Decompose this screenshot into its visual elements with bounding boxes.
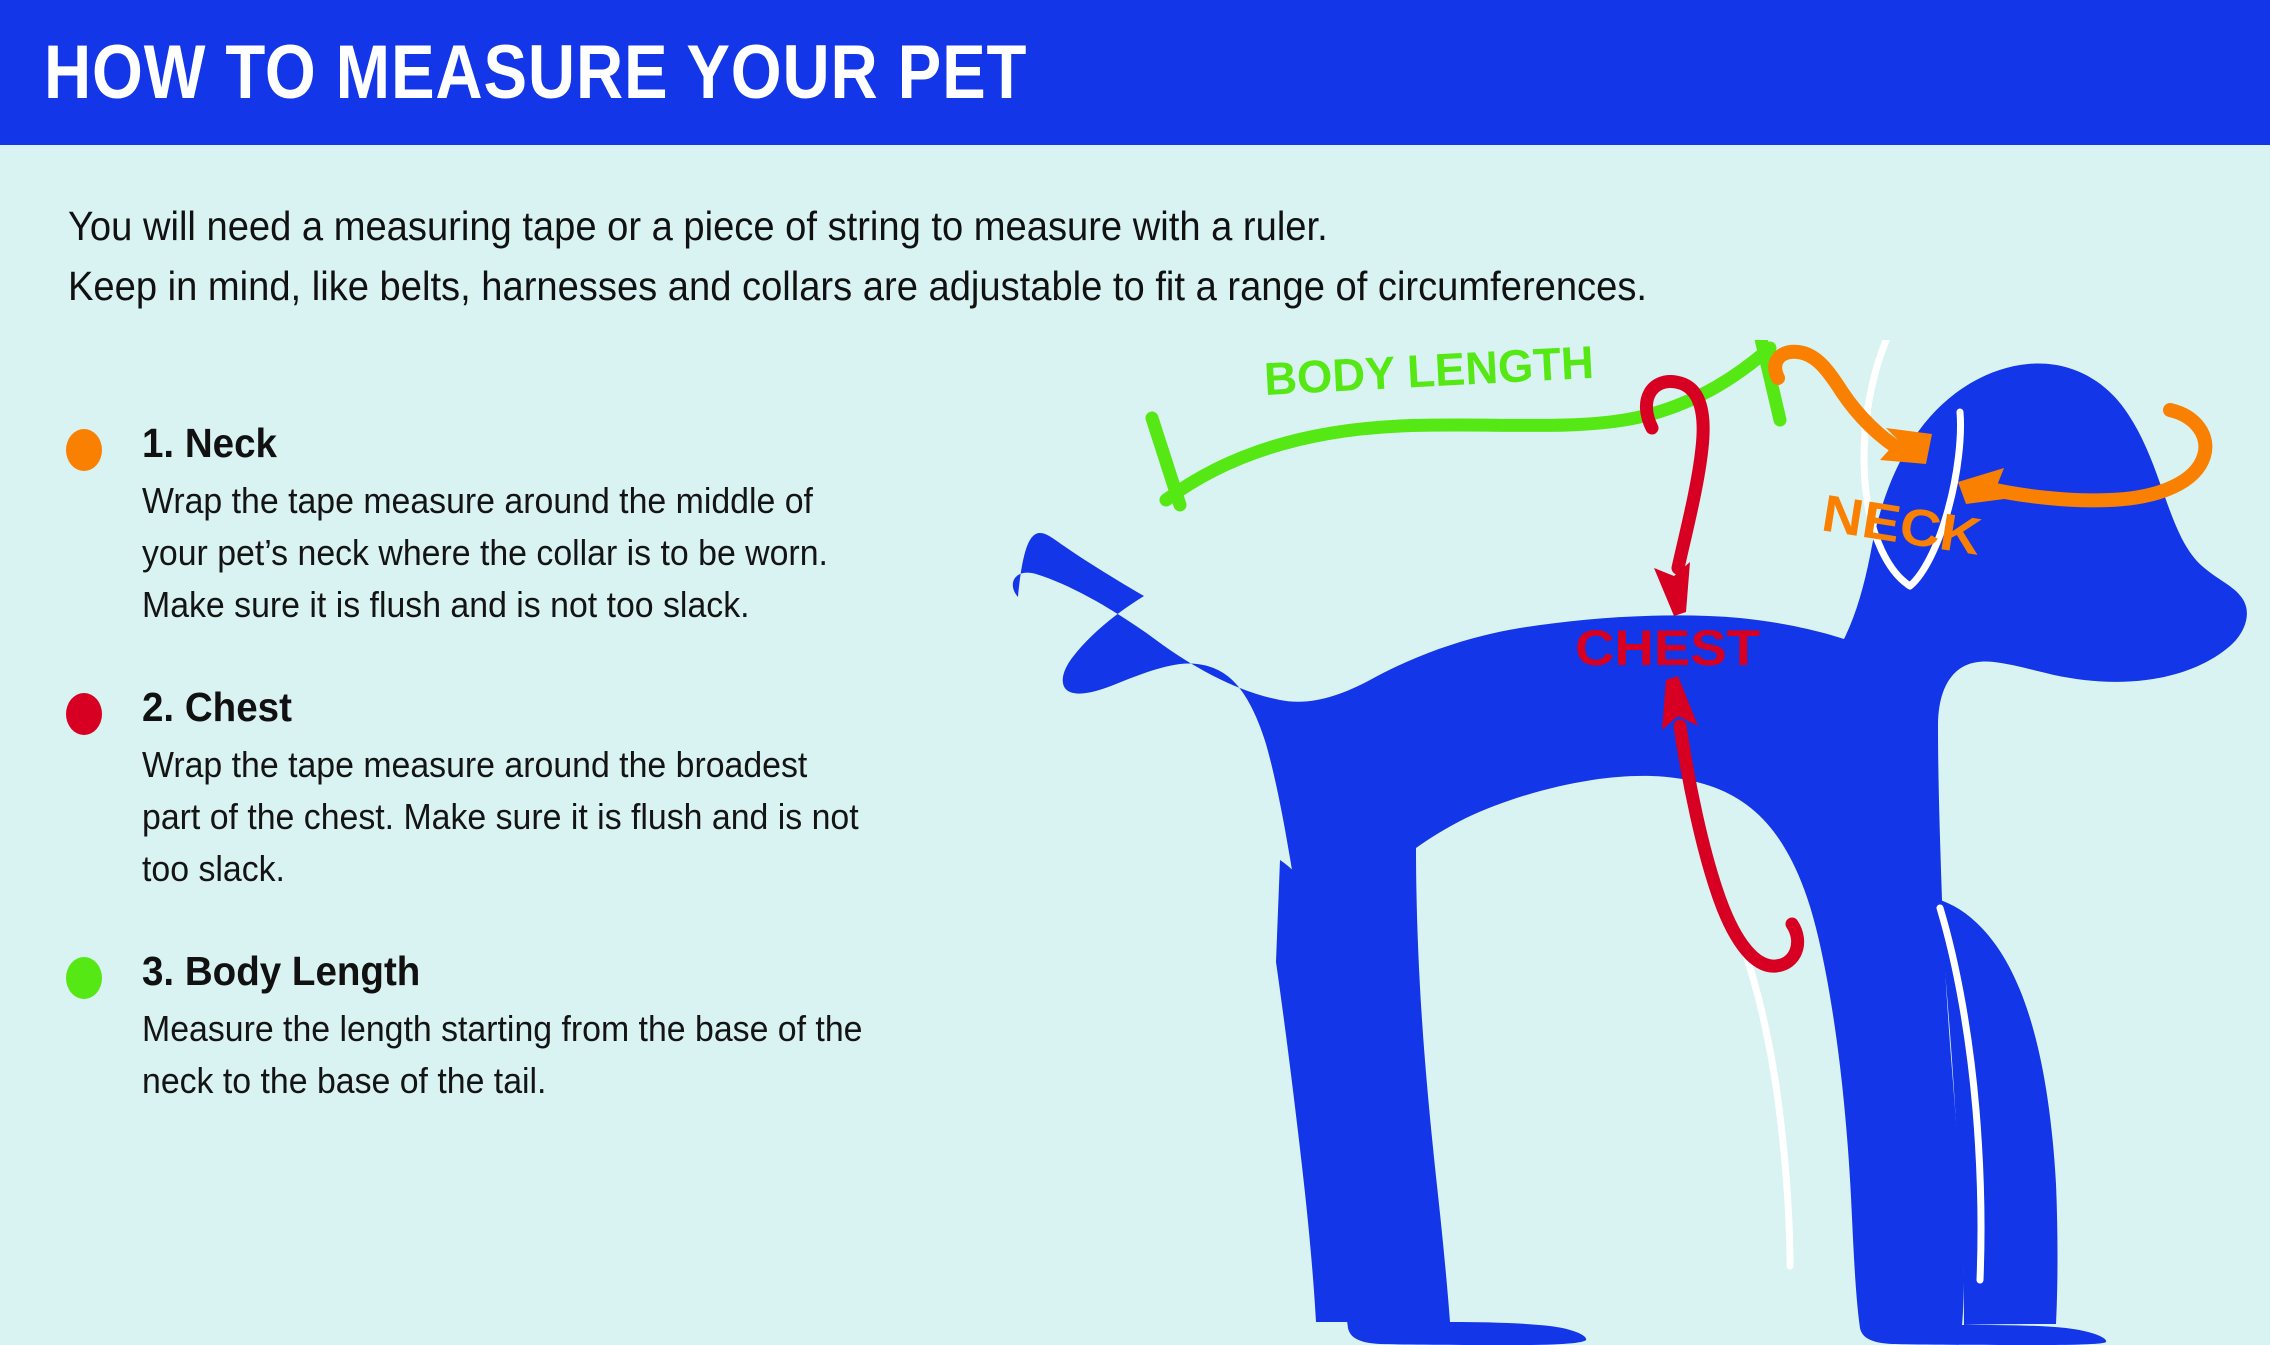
list-item-description-chest: Wrap the tape measure around the broades… [142,739,969,895]
list-item-body-length: 3. Body Length Measure the length starti… [66,943,1076,1107]
bullet-dot-icon-neck [66,429,102,471]
list-item-description-body-length: Measure the length starting from the bas… [142,1003,969,1107]
annotation-body-length: BODY LENGTH [1152,340,1780,505]
list-item-neck: 1. Neck Wrap the tape measure around the… [66,415,1076,631]
annotation-label-body-length: BODY LENGTH [1263,340,1595,405]
list-item-chest: 2. Chest Wrap the tape measure around th… [66,679,1076,895]
list-item-description-neck: Wrap the tape measure around the middle … [142,475,969,631]
dog-silhouette-icon [1013,363,2247,1345]
dog-chest-line [1738,932,1790,1266]
desc-line: Wrap the tape measure around the broades… [142,739,969,791]
desc-line: your pet’s neck where the collar is to b… [142,527,969,579]
annotation-label-chest: CHEST [1575,620,1760,676]
desc-line: neck to the base of the tail. [142,1055,969,1107]
header-bar: HOW TO MEASURE YOUR PET [0,0,2270,145]
bullet-dot-icon-chest [66,693,102,735]
intro-line-1: You will need a measuring tape or a piec… [68,196,1668,256]
desc-line: Wrap the tape measure around the middle … [142,475,969,527]
list-item-heading-chest: 2. Chest [142,679,1020,735]
list-item-heading-neck: 1. Neck [142,415,1020,471]
dog-measurement-diagram: BODY LENGTH NECK CHEST [980,340,2270,1345]
desc-line: part of the chest. Make sure it is flush… [142,791,969,843]
intro-paragraph: You will need a measuring tape or a piec… [68,196,1788,316]
list-item-heading-body-length: 3. Body Length [142,943,1020,999]
desc-line: Make sure it is flush and is not too sla… [142,579,969,631]
page-title: HOW TO MEASURE YOUR PET [44,18,1027,128]
measurement-steps-list: 1. Neck Wrap the tape measure around the… [66,415,1076,1155]
bullet-dot-icon-body-length [66,957,102,999]
desc-line: too slack. [142,843,969,895]
desc-line: Measure the length starting from the bas… [142,1003,969,1055]
neck-arrow-left-curve [1775,352,1904,452]
intro-line-2: Keep in mind, like belts, harnesses and … [68,256,1668,316]
